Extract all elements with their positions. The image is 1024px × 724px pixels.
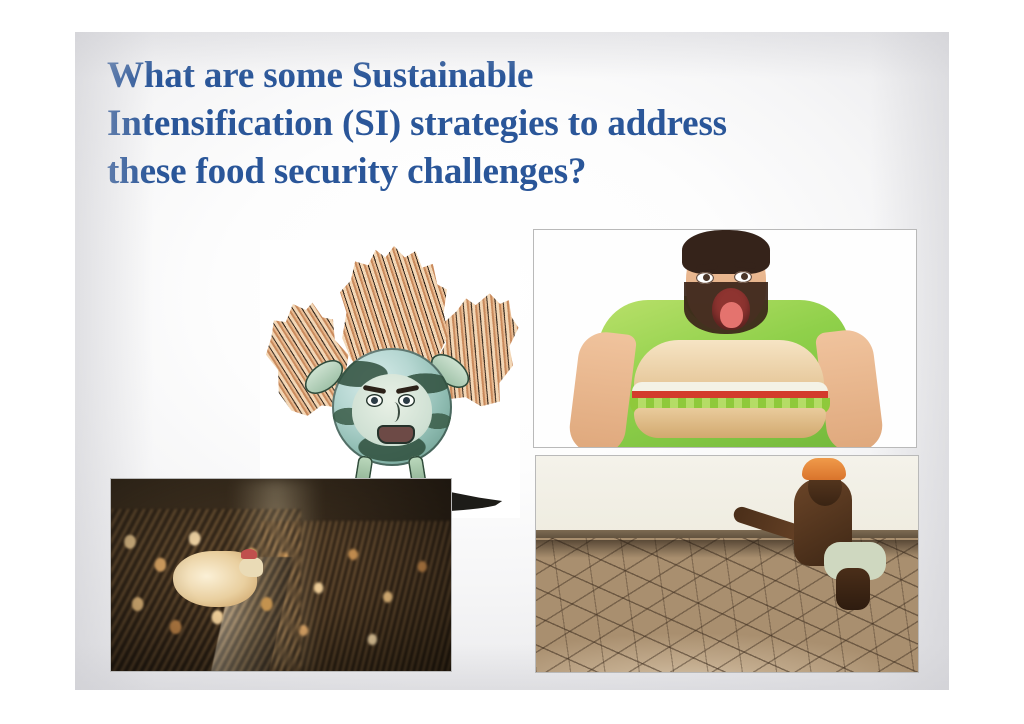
globe-eyebrow-left xyxy=(363,385,387,394)
globe-face xyxy=(352,374,432,446)
eye-left xyxy=(696,272,714,284)
pale-sky xyxy=(536,456,918,536)
slide-canvas: What are some Sustainable Intensificatio… xyxy=(0,0,1024,724)
globe-eyebrow-right xyxy=(396,385,420,394)
farmer-leg xyxy=(836,568,870,610)
title-line-1: What are some Sustainable xyxy=(107,55,533,96)
drought-photo-canvas xyxy=(536,456,918,672)
slide-surface: What are some Sustainable Intensificatio… xyxy=(75,32,949,690)
image-man-eating-giant-sandwich xyxy=(533,229,917,448)
sandwich-bottom-bun xyxy=(634,408,826,438)
globe-eye-left xyxy=(366,394,383,407)
eye-right xyxy=(734,271,752,283)
cartoon-canvas xyxy=(260,240,520,518)
title-line-3: these food security challenges? xyxy=(107,151,586,192)
sandwich-photo-canvas xyxy=(534,230,916,447)
image-overpopulation-cartoon xyxy=(260,240,520,518)
earth-globe-icon xyxy=(332,348,452,466)
page-title: What are some Sustainable Intensificatio… xyxy=(107,52,919,196)
poultry-photo-canvas xyxy=(111,479,451,671)
title-line-2: Intensification (SI) strategies to addre… xyxy=(107,103,727,144)
image-intensive-poultry-house xyxy=(110,478,452,672)
globe-nose xyxy=(388,402,400,422)
globe-mouth xyxy=(377,425,415,444)
orange-turban xyxy=(802,458,846,480)
tongue xyxy=(720,302,743,328)
photo-vignette xyxy=(111,479,451,671)
globe-eye-right xyxy=(398,394,415,407)
image-farmer-on-cracked-earth xyxy=(535,455,919,673)
